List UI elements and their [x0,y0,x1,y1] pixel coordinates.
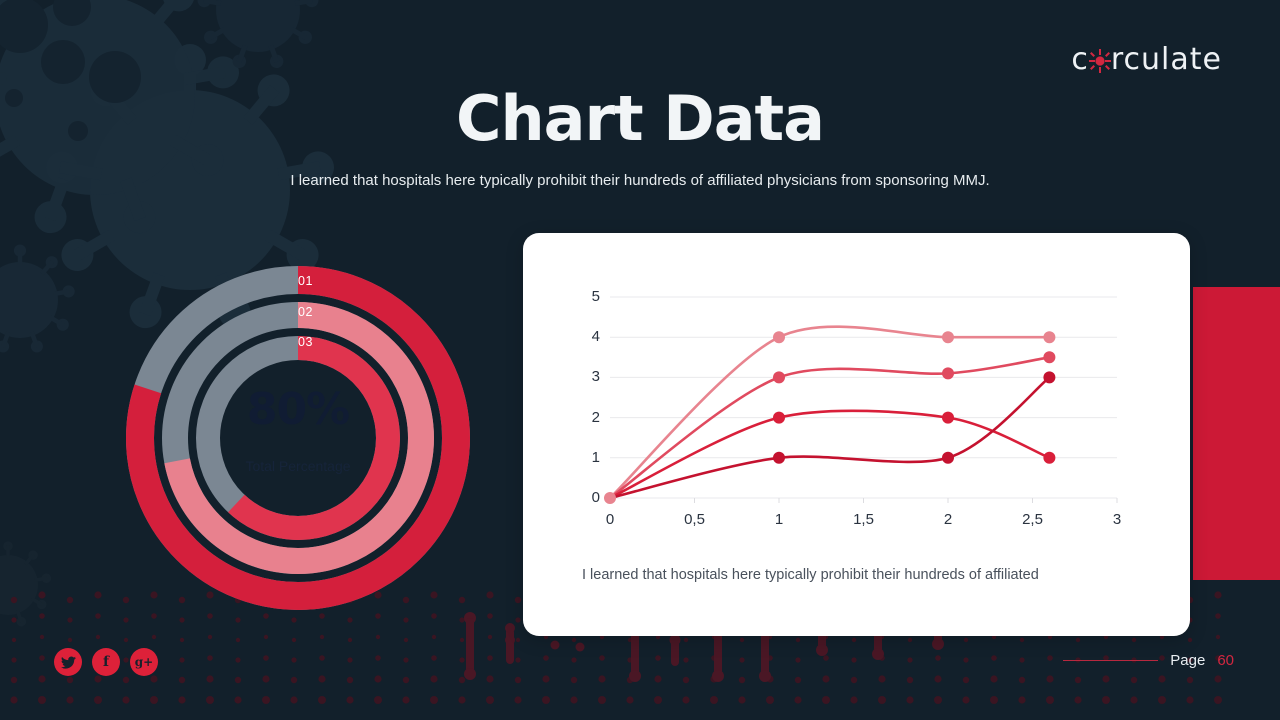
data-point[interactable] [1043,371,1055,383]
data-point[interactable] [1043,351,1055,363]
card-caption: I learned that hospitals here typically … [582,567,1162,583]
data-point[interactable] [942,331,954,343]
x-axis-tick-label: 2,5 [1013,511,1053,528]
right-accent-block [1193,287,1280,580]
data-point[interactable] [942,452,954,464]
twitter-icon[interactable] [54,648,82,676]
y-axis-tick-label: 1 [574,449,600,466]
facebook-glyph: f [103,654,109,670]
logo-prefix: c [1071,42,1089,77]
data-point[interactable] [1043,331,1055,343]
donut-center-value: 80% [118,384,478,435]
virus-mark-icon [1089,45,1111,75]
logo-suffix: rculate [1111,42,1222,77]
data-point[interactable] [1043,452,1055,464]
y-axis-tick-label: 0 [574,489,600,506]
google-plus-icon[interactable]: g+ [130,648,158,676]
y-axis-tick-label: 5 [574,288,600,305]
line-series [610,411,1049,498]
page-number: 60 [1217,652,1234,669]
y-axis-tick-label: 3 [574,368,600,385]
data-point[interactable] [773,412,785,424]
line-series [610,377,1049,498]
ring-label-03: 03 [298,335,313,349]
x-axis-tick-label: 0,5 [675,511,715,528]
data-point[interactable] [773,371,785,383]
line-chart-plot [523,233,1190,533]
x-axis-tick-label: 1 [759,511,799,528]
data-point[interactable] [773,331,785,343]
social-links[interactable]: f g+ [54,648,158,676]
page-label: Page [1170,652,1205,669]
donut-center-label: Total Percentage [118,458,478,474]
data-point[interactable] [942,367,954,379]
data-point[interactable] [604,492,616,504]
data-point[interactable] [773,452,785,464]
page-subtitle: I learned that hospitals here typically … [0,172,1280,189]
page-rule [1063,660,1158,661]
x-axis-tick-label: 0 [590,511,630,528]
y-axis-tick-label: 4 [574,328,600,345]
y-axis-tick-label: 2 [574,409,600,426]
data-point[interactable] [942,412,954,424]
facebook-icon[interactable]: f [92,648,120,676]
x-axis-tick-label: 2 [928,511,968,528]
ring-label-01: 01 [298,274,313,288]
donut-chart: 01 02 03 80% Total Percentage [118,258,478,618]
page-title: Chart Data [0,82,1280,155]
google-plus-glyph: g+ [135,655,153,669]
x-axis-tick-label: 3 [1097,511,1137,528]
page-indicator: Page 60 [1063,652,1234,669]
brand-logo: c rculate [1071,42,1222,77]
x-axis-tick-label: 1,5 [844,511,884,528]
line-chart-card: I learned that hospitals here typically … [523,233,1190,636]
ring-label-02: 02 [298,305,313,319]
